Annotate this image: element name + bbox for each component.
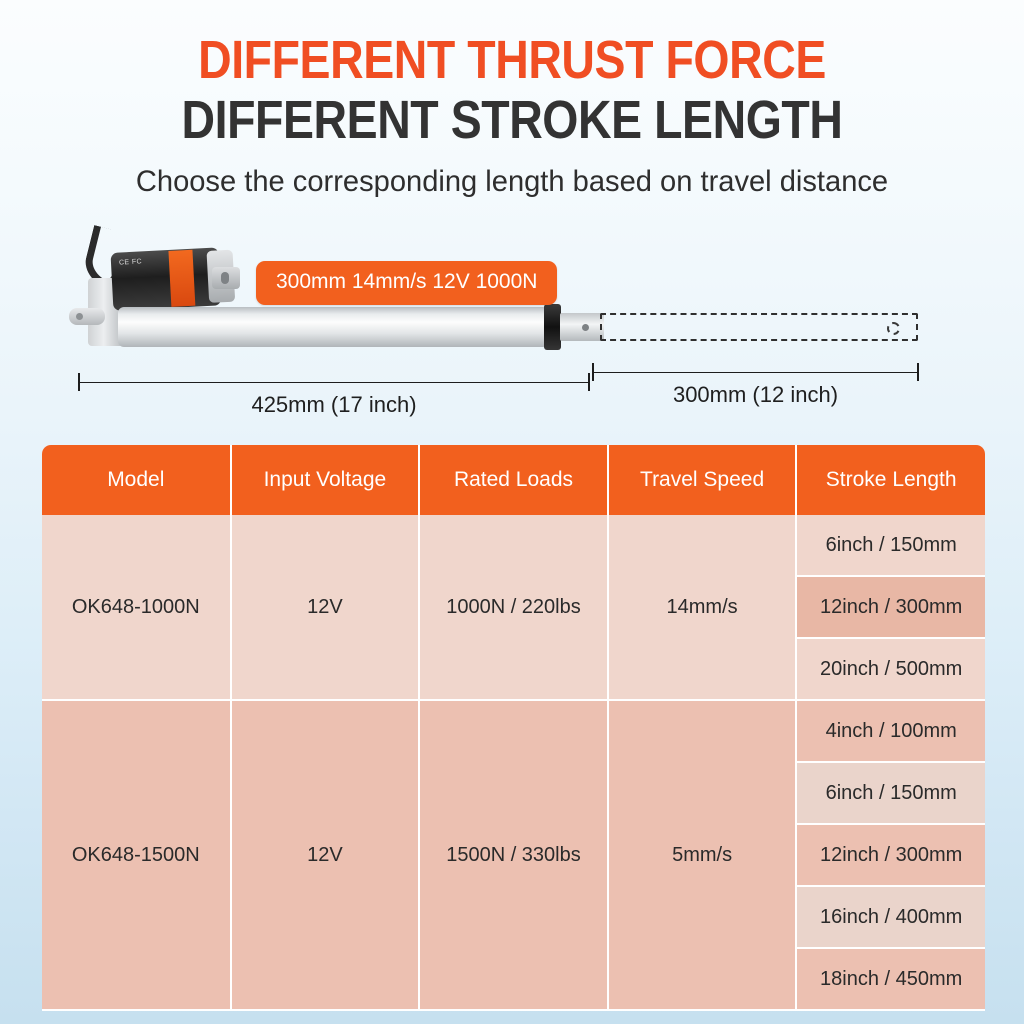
motor-hanger-tab [212, 267, 240, 289]
table-header: Model Input Voltage Rated Loads Travel S… [42, 445, 985, 515]
dimension-body-label: 425mm (17 inch) [78, 392, 590, 418]
cell-stroke-option: 20inch / 500mm [796, 638, 985, 700]
cell-input-voltage: 12V [231, 515, 420, 700]
cell-rated-loads: 1500N / 330lbs [419, 700, 608, 1010]
extension-rod [560, 313, 604, 341]
column-header-travel-speed: Travel Speed [608, 445, 797, 515]
page-title-line-2: DIFFERENT STROKE LENGTH [72, 90, 953, 150]
cell-travel-speed: 5mm/s [608, 700, 797, 1010]
cell-stroke-option: 18inch / 450mm [796, 948, 985, 1010]
cell-model: OK648-1500N [42, 700, 231, 1010]
certification-marks-label: CE FC [119, 257, 161, 305]
page-subtitle: Choose the corresponding length based on… [15, 164, 1008, 200]
motor-orange-label [168, 250, 195, 307]
front-mounting-eye-outline [887, 322, 900, 335]
headings-block: DIFFERENT THRUST FORCE DIFFERENT STROKE … [0, 30, 1024, 200]
table-header-row: Model Input Voltage Rated Loads Travel S… [42, 445, 985, 515]
cell-stroke-option: 12inch / 300mm [796, 824, 985, 886]
table-body: OK648-1000N 12V 1000N / 220lbs 14mm/s 6i… [42, 515, 985, 1010]
column-header-stroke-length: Stroke Length [796, 445, 985, 515]
actuator-tube [118, 307, 546, 347]
cell-stroke-option: 12inch / 300mm [796, 576, 985, 638]
cell-rated-loads: 1000N / 220lbs [419, 515, 608, 700]
page-title-line-1: DIFFERENT THRUST FORCE [72, 30, 953, 90]
column-header-model: Model [42, 445, 231, 515]
cell-stroke-option: 6inch / 150mm [796, 515, 985, 576]
cell-input-voltage: 12V [231, 700, 420, 1010]
cell-stroke-option: 4inch / 100mm [796, 700, 985, 762]
table-row: OK648-1000N 12V 1000N / 220lbs 14mm/s 6i… [42, 515, 985, 576]
cell-stroke-option: 6inch / 150mm [796, 762, 985, 824]
specification-table: Model Input Voltage Rated Loads Travel S… [42, 445, 985, 1011]
cell-stroke-option: 16inch / 400mm [796, 886, 985, 948]
table-row: OK648-1500N 12V 1500N / 330lbs 5mm/s 4in… [42, 700, 985, 762]
motor-housing: CE FC [110, 247, 221, 311]
column-header-input-voltage: Input Voltage [231, 445, 420, 515]
dimension-stroke-label: 300mm (12 inch) [592, 382, 919, 408]
stroke-extension-outline [600, 313, 918, 341]
column-header-rated-loads: Rated Loads [419, 445, 608, 515]
product-infographic-page: { "heading": { "line1": "DIFFERENT THRUS… [0, 0, 1024, 1024]
cell-model: OK648-1000N [42, 515, 231, 700]
spec-callout-badge: 300mm 14mm/s 12V 1000N [256, 261, 557, 305]
cell-travel-speed: 14mm/s [608, 515, 797, 700]
tube-collar [544, 304, 561, 350]
rear-mounting-eye [69, 308, 105, 325]
